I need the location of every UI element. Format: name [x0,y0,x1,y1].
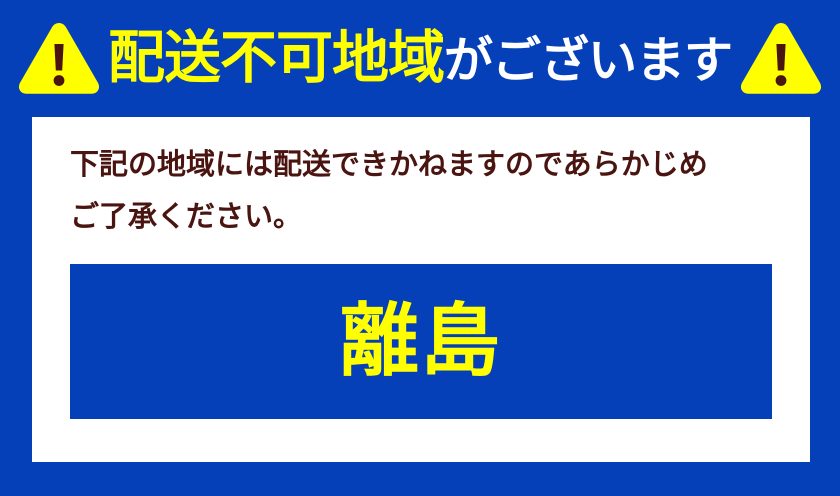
excluded-region-box: 離島 [70,264,772,419]
page-title-highlight: 配送不可地域 [108,30,444,87]
page-title-tail: がございます [444,36,732,85]
warning-triangle-icon-right [738,20,824,96]
banner-header: 配送不可地域 がございます [0,0,840,116]
warning-triangle-icon-left [16,20,102,96]
excluded-region-label: 離島 [340,302,502,381]
notice-line-1: 下記の地域には配送できかねますのであらかじめ [70,139,776,191]
notice-line-2: ご了承ください。 [70,191,776,243]
page-title: 配送不可地域 がございます [108,30,732,87]
notice-text: 下記の地域には配送できかねますのであらかじめ ご了承ください。 [70,139,776,242]
delivery-unavailable-banner: 配送不可地域 がございます 下記の地域には配送できかねますのであらかじめ ご了承… [0,0,840,496]
content-panel: 下記の地域には配送できかねますのであらかじめ ご了承ください。 離島 [32,117,810,462]
